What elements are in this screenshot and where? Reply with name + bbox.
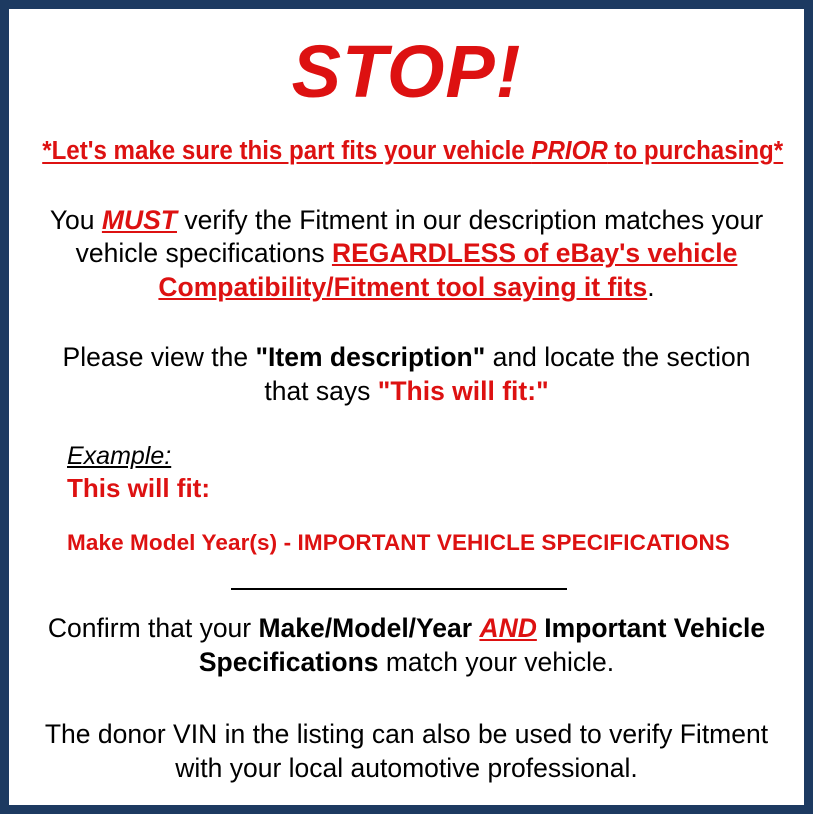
p1-emphasis-must: MUST: [102, 205, 177, 235]
subtitle-suffix: to purchasing*: [608, 137, 783, 165]
p1-seg-5: .: [647, 272, 654, 302]
separator: [21, 582, 792, 596]
paragraph-donor-vin: The donor VIN in the listing can also be…: [21, 718, 792, 786]
p3-seg-7: match your vehicle.: [379, 647, 615, 677]
paragraph-item-description: Please view the "Item description" and l…: [21, 341, 792, 409]
separator-line: [231, 588, 567, 590]
p3-emphasis-and: AND: [479, 613, 536, 643]
notice-content: STOP! *Let's make sure this part fits yo…: [9, 9, 804, 805]
p2-seg-1: Please view the: [63, 342, 256, 372]
example-label: Example:: [67, 443, 171, 471]
paragraph-confirm-match: Confirm that your Make/Model/Year AND Im…: [21, 612, 792, 680]
p3-emphasis-make-model-year: Make/Model/Year: [258, 613, 472, 643]
p3-seg-1: Confirm that your: [48, 613, 259, 643]
subtitle-prefix: *Let's make sure this part fits your veh…: [42, 137, 531, 165]
example-fit-heading: This will fit:: [67, 473, 792, 504]
p2-emphasis-this-will-fit: "This will fit:": [378, 376, 549, 406]
paragraph-verify-fitment: You MUST verify the Fitment in our descr…: [21, 204, 792, 306]
p1-seg-1: You: [50, 205, 102, 235]
example-label-row: Example:: [67, 443, 792, 471]
example-spec-line: Make Model Year(s) - IMPORTANT VEHICLE S…: [67, 529, 792, 556]
subtitle-emphasis-prior: PRIOR: [531, 137, 607, 165]
p2-emphasis-item-description: "Item description": [255, 342, 485, 372]
example-block: Example: This will fit: Make Model Year(…: [21, 443, 792, 556]
page-title: STOP!: [21, 35, 792, 109]
fitment-notice-card: STOP! *Let's make sure this part fits yo…: [0, 0, 813, 814]
subtitle-banner: *Let's make sure this part fits your veh…: [42, 137, 771, 166]
